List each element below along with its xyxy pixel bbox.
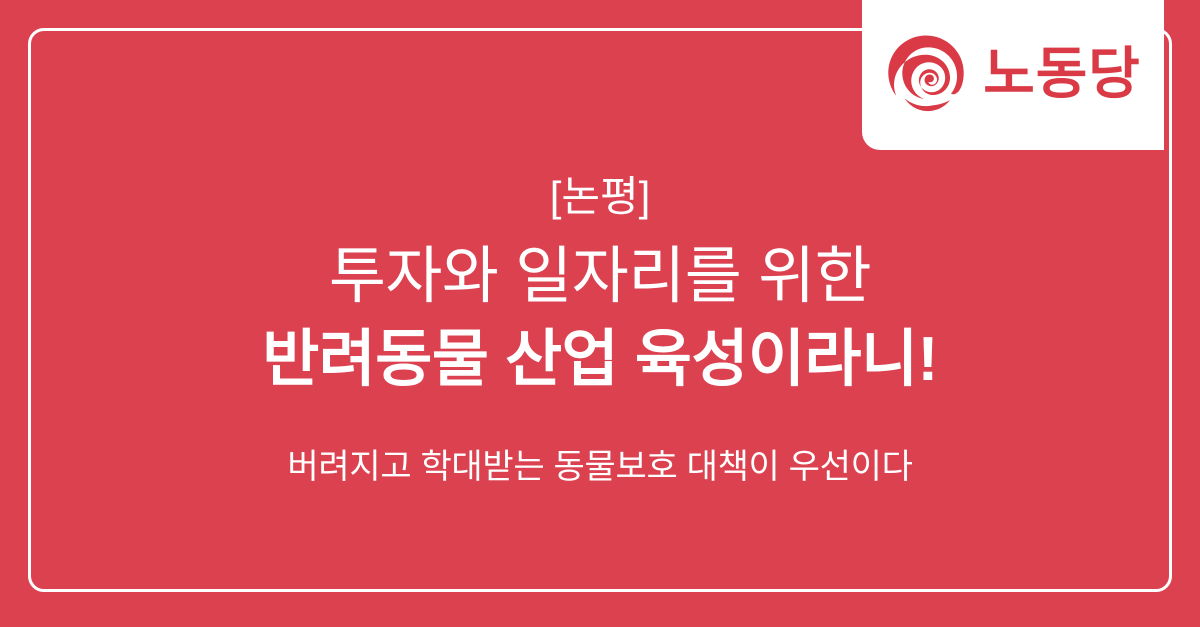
statement-card: 노동당 [논평] 투자와 일자리를 위한 반려동물 산업 육성이라니! 버려지고… — [0, 0, 1200, 627]
subheadline: 버려지고 학대받는 동물보호 대책이 우선이다 — [287, 447, 912, 488]
headline-block: [논평] 투자와 일자리를 위한 반려동물 산업 육성이라니! 버려지고 학대받… — [0, 0, 1200, 627]
headline-line-1: 투자와 일자리를 위한 — [329, 242, 871, 311]
category-kicker: [논평] — [550, 174, 651, 220]
headline-line-2: 반려동물 산업 육성이라니! — [262, 325, 938, 394]
